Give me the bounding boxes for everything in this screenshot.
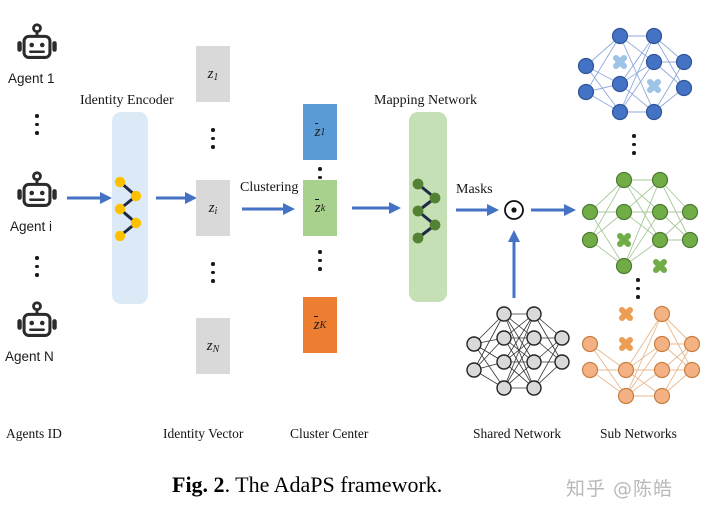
arrow-product-to-subnetworks [530, 200, 578, 220]
robot-icon [14, 22, 60, 68]
cluster-center-K-base: z [314, 317, 320, 333]
identity-vector-n: zN [196, 318, 230, 374]
sub-network-blue [572, 18, 698, 130]
cluster-center-1-base: z [315, 124, 321, 140]
identity-encoder-label: Identity Encoder [80, 93, 174, 109]
figure-canvas: Agent 1 Agent i Agent N [0, 0, 714, 514]
sub-network-green [576, 162, 702, 284]
identity-vector-ellipsis-top [211, 128, 215, 149]
identity-vector-i: zi [196, 180, 230, 236]
identity-vector-n-sub: N [213, 344, 220, 355]
arrow-cluster-to-mapping [351, 198, 403, 218]
masked-node-icon [622, 310, 630, 348]
shared-network [462, 298, 572, 406]
mapping-network-label: Mapping Network [374, 93, 477, 109]
cluster-center-k-sub: k [321, 203, 325, 214]
figure-caption: Fig. 2. The AdaPS framework. [172, 472, 442, 498]
cluster-center-K-sub: K [320, 320, 327, 331]
robot-icon [14, 300, 60, 346]
identity-vector-ellipsis-bottom [211, 262, 215, 283]
arrow-clustering [241, 199, 297, 219]
identity-vector-1-sub: 1 [213, 72, 218, 83]
agents-ellipsis-bottom [35, 256, 39, 277]
identity-encoder-nodes [110, 170, 152, 248]
bottom-label-agents-id: Agents ID [6, 426, 62, 442]
agent-n-label: Agent N [5, 349, 54, 364]
arrow-encoder-to-vector [155, 188, 199, 208]
cluster-center-k: zk [303, 180, 337, 236]
bottom-label-shared-network: Shared Network [473, 426, 561, 442]
arrow-masks [455, 200, 501, 220]
arrow-agent-to-encoder [66, 188, 114, 208]
element-wise-product-icon [500, 196, 528, 224]
robot-icon [14, 170, 60, 216]
bottom-label-cluster-center: Cluster Center [290, 426, 368, 442]
agent-i [14, 170, 60, 221]
cluster-center-1: z1 [303, 104, 337, 160]
agent-1-label: Agent 1 [8, 71, 55, 86]
agents-ellipsis-top [35, 114, 39, 135]
cluster-center-k-base: z [315, 200, 321, 216]
arrow-shared-to-product [504, 228, 524, 300]
cluster-center-ellipsis-bottom [318, 250, 322, 271]
cluster-center-1-sub: 1 [320, 127, 325, 138]
figure-caption-bold: Fig. 2 [172, 472, 225, 497]
mapping-network-nodes [407, 172, 451, 250]
clustering-label: Clustering [240, 180, 298, 196]
agent-1 [14, 22, 60, 73]
identity-vector-i-sub: i [215, 206, 218, 217]
agent-i-label: Agent i [10, 219, 52, 234]
agent-n [14, 300, 60, 351]
figure-caption-rest: . The AdaPS framework. [225, 472, 443, 497]
bottom-label-sub-networks: Sub Networks [600, 426, 677, 442]
cluster-center-K: zK [303, 297, 337, 353]
masks-label: Masks [456, 182, 493, 198]
identity-vector-1: z1 [196, 46, 230, 102]
watermark: 知乎 @陈皓 [566, 474, 673, 501]
bottom-label-identity-vector: Identity Vector [163, 426, 243, 442]
sub-network-orange [576, 296, 702, 410]
sub-network-ellipsis-top [632, 134, 636, 155]
